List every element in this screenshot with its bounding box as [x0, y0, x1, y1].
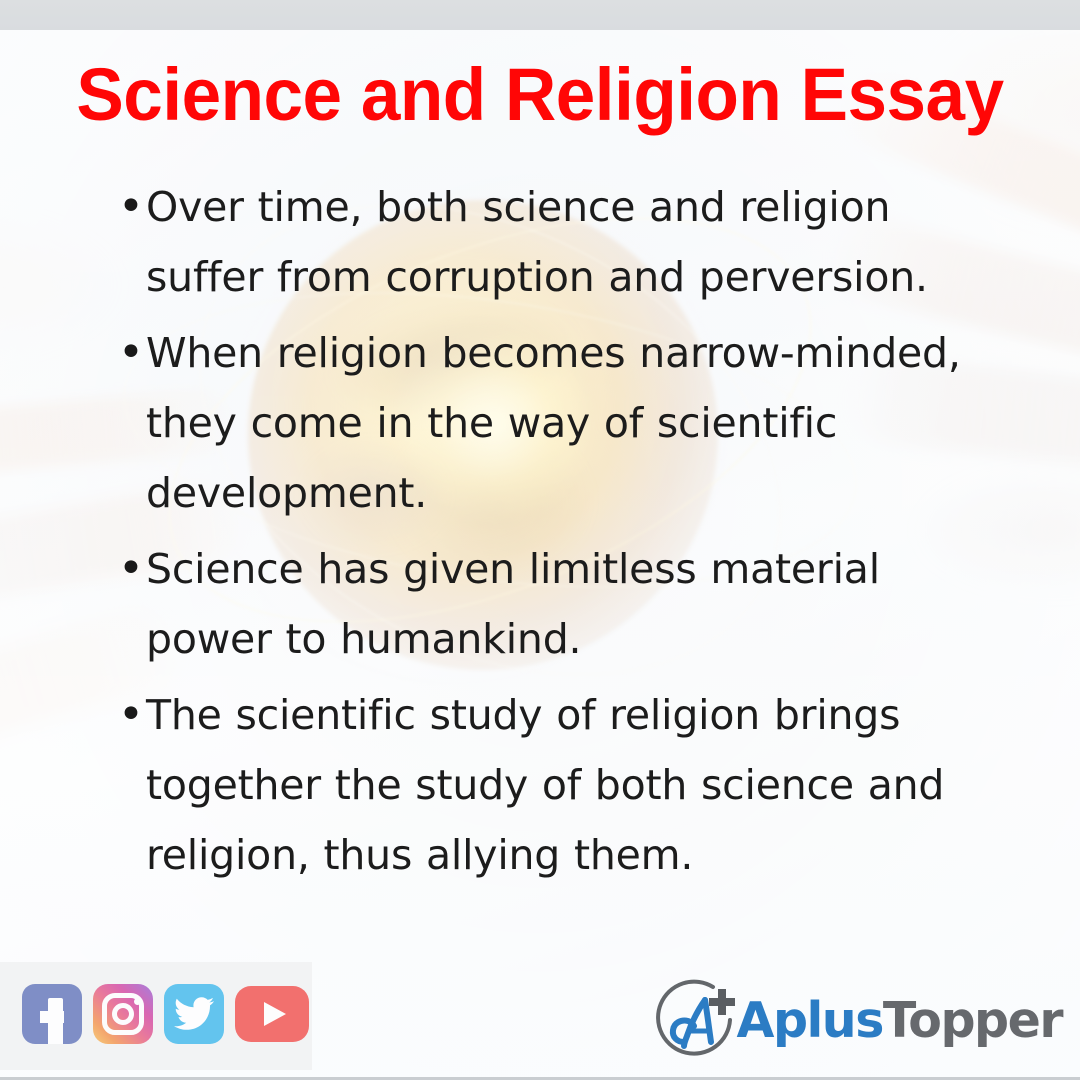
instagram-icon[interactable] — [93, 984, 153, 1044]
logo-text-aplus: Aplus — [737, 992, 883, 1049]
bullet-text: The scientific study of religion brings … — [146, 680, 1012, 890]
bullet-list: • Over time, both science and religion s… — [112, 172, 1012, 896]
bullet-marker-icon: • — [112, 534, 146, 604]
facebook-icon[interactable] — [22, 984, 82, 1044]
aplus-mark-icon — [651, 976, 739, 1064]
poster-canvas: Science and Religion Essay • Over time, … — [0, 0, 1080, 1080]
twitter-icon[interactable] — [164, 984, 224, 1044]
bullet-text: When religion becomes narrow-minded, the… — [146, 318, 1012, 528]
content-area: Science and Religion Essay • Over time, … — [0, 0, 1080, 1080]
bullet-text: Over time, both science and religion suf… — [146, 172, 1012, 312]
list-item: • The scientific study of religion bring… — [112, 680, 1012, 890]
bullet-marker-icon: • — [112, 680, 146, 750]
bullet-text: Science has given limitless material pow… — [146, 534, 1012, 674]
list-item: • Over time, both science and religion s… — [112, 172, 1012, 312]
bullet-marker-icon: • — [112, 318, 146, 388]
bullet-marker-icon: • — [112, 172, 146, 242]
page-title: Science and Religion Essay — [22, 52, 1059, 137]
list-item: • Science has given limitless material p… — [112, 534, 1012, 674]
social-links — [22, 984, 309, 1044]
logo-wordmark: AplusTopper — [737, 996, 1062, 1045]
youtube-icon[interactable] — [235, 986, 309, 1042]
list-item: • When religion becomes narrow-minded, t… — [112, 318, 1012, 528]
aplustopper-logo[interactable]: AplusTopper — [651, 976, 1062, 1064]
logo-text-topper: Topper — [883, 992, 1062, 1049]
